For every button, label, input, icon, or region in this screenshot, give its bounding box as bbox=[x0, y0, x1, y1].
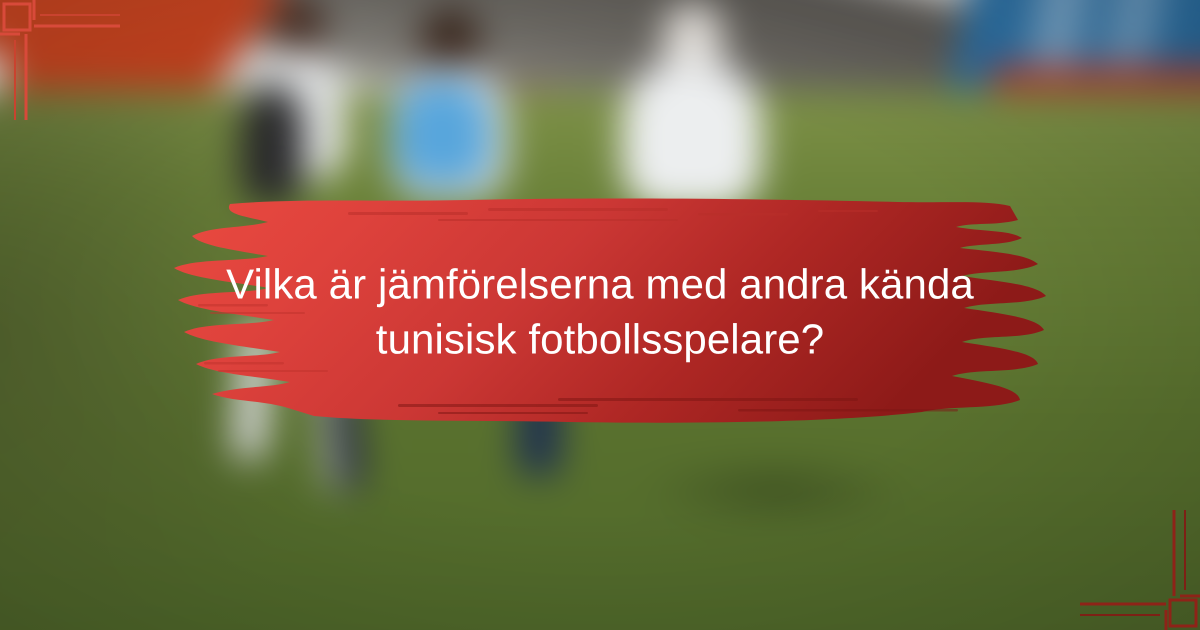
social-card: Vilka är jämförelserna med andra kända t… bbox=[0, 0, 1200, 630]
corner-ornament-bottom-right bbox=[1080, 510, 1200, 630]
headline-banner: Vilka är jämförelserna med andra kända t… bbox=[138, 186, 1062, 438]
corner-ornament-top-left bbox=[0, 0, 120, 120]
headline-text: Vilka är jämförelserna med andra kända t… bbox=[138, 257, 1062, 368]
